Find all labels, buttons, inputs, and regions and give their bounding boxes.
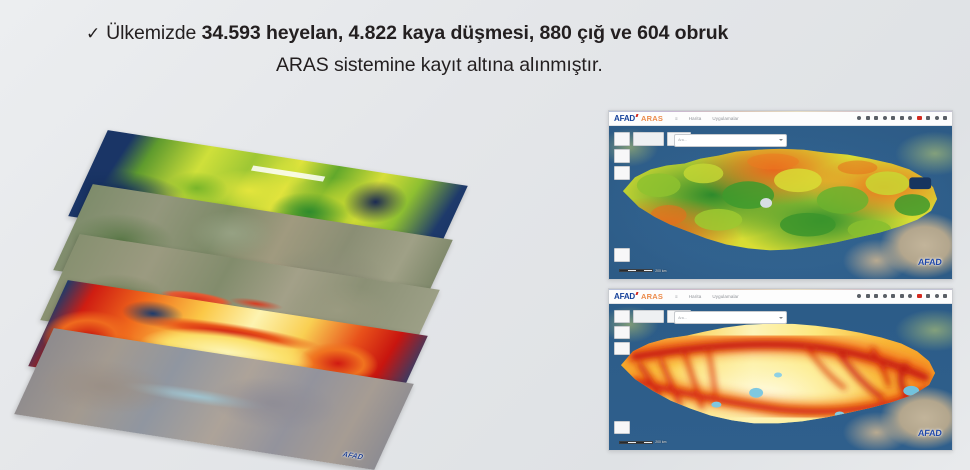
afad-logo[interactable]: AFAD <box>614 292 635 301</box>
measure-icon[interactable] <box>891 294 895 298</box>
aras-logo[interactable]: ARAS <box>641 114 663 123</box>
scale-bar-graphic <box>619 269 653 272</box>
check-icon: ✓ <box>86 24 100 44</box>
map-canvas-landslide[interactable]: Ara... 200 km AFAD <box>609 126 952 279</box>
legend-icon[interactable] <box>883 116 887 120</box>
basemap-icon[interactable] <box>874 116 878 120</box>
header-menu[interactable]: ≡ Harita Uygulamalar <box>675 116 739 121</box>
basemap-icon[interactable] <box>874 294 878 298</box>
locate-button[interactable] <box>614 421 629 434</box>
header-menu[interactable]: ≡ Harita Uygulamalar <box>675 294 739 299</box>
active-tool-icon[interactable] <box>917 294 922 298</box>
map-search-input[interactable]: Ara... <box>674 311 787 323</box>
draw-icon[interactable] <box>926 294 930 298</box>
menu-item-2[interactable]: Uygulamalar <box>712 294 738 299</box>
stat-avalanche-sinkhole: 880 çığ ve 604 obruk <box>540 22 729 44</box>
bookmark-icon[interactable] <box>908 116 912 120</box>
layers-icon[interactable] <box>866 116 870 120</box>
map-scale-bar: 200 km <box>619 269 666 273</box>
headline-prefix: Ülkemizde <box>106 22 201 44</box>
measure-icon[interactable] <box>891 116 895 120</box>
layer-panel-tab[interactable] <box>633 310 664 323</box>
turkey-landslide-raster <box>609 126 952 279</box>
zoom-in-button[interactable] <box>614 310 629 323</box>
map-layer-stack: AFAD AFAD AFAD AFAD AFAD <box>18 150 518 430</box>
settings-icon[interactable] <box>943 294 947 298</box>
search-placeholder: Ara... <box>678 138 687 142</box>
chevron-down-icon[interactable] <box>779 139 783 141</box>
chevron-down-icon[interactable] <box>779 317 783 319</box>
locate-button[interactable] <box>614 248 629 262</box>
afad-watermark: AFAD <box>918 428 943 438</box>
headline-line-2: ARAS sistemine kayıt altına alınmıştır. <box>276 54 886 77</box>
home-extent-button[interactable] <box>614 342 629 355</box>
home-icon[interactable] <box>857 294 861 298</box>
browser-window-seismic[interactable]: AFAD ARAS ≡ Harita Uygulamalar <box>608 288 953 451</box>
turkey-seismic-raster <box>609 304 952 450</box>
app-header-bar: AFAD ARAS ≡ Harita Uygulamalar <box>609 111 952 126</box>
stat-rockfalls: 4.822 kaya düşmesi, <box>349 22 535 44</box>
map-search-input[interactable]: Ara... <box>674 134 787 147</box>
share-icon[interactable] <box>935 294 939 298</box>
menu-item-1[interactable]: Harita <box>689 116 702 121</box>
layer-panel-tab[interactable] <box>633 132 664 146</box>
menu-item-0[interactable]: ≡ <box>675 116 678 121</box>
scale-bar-label: 200 km <box>655 440 666 444</box>
scale-bar-graphic <box>619 441 653 444</box>
headline-line-1: ✓Ülkemizde 34.593 heyelan, 4.822 kaya dü… <box>86 22 886 45</box>
aras-logo[interactable]: ARAS <box>641 292 663 301</box>
afad-watermark: AFAD <box>341 451 365 461</box>
menu-item-0[interactable]: ≡ <box>675 294 678 299</box>
active-tool-icon[interactable] <box>917 116 922 120</box>
zoom-out-button[interactable] <box>614 149 629 163</box>
toolbar-icons[interactable] <box>857 116 947 120</box>
toolbar-icons[interactable] <box>857 294 947 298</box>
legend-icon[interactable] <box>883 294 887 298</box>
map-scale-bar: 200 km <box>619 440 666 444</box>
map-canvas-seismic[interactable]: Ara... 200 km AFAD <box>609 304 952 450</box>
layers-icon[interactable] <box>866 294 870 298</box>
share-icon[interactable] <box>935 116 939 120</box>
stat-landslides: 34.593 heyelan, <box>202 22 344 44</box>
afad-watermark: AFAD <box>918 257 943 267</box>
menu-item-2[interactable]: Uygulamalar <box>712 116 738 121</box>
afad-logo[interactable]: AFAD <box>614 114 635 123</box>
settings-icon[interactable] <box>943 116 947 120</box>
home-extent-button[interactable] <box>614 166 629 180</box>
headline-block: ✓Ülkemizde 34.593 heyelan, 4.822 kaya dü… <box>86 22 886 77</box>
home-icon[interactable] <box>857 116 861 120</box>
zoom-in-button[interactable] <box>614 132 629 146</box>
menu-item-1[interactable]: Harita <box>689 294 702 299</box>
app-header-bar: AFAD ARAS ≡ Harita Uygulamalar <box>609 289 952 304</box>
print-icon[interactable] <box>900 294 904 298</box>
search-placeholder: Ara... <box>678 316 687 320</box>
print-icon[interactable] <box>900 116 904 120</box>
draw-icon[interactable] <box>926 116 930 120</box>
bookmark-icon[interactable] <box>908 294 912 298</box>
scale-bar-label: 200 km <box>655 269 666 273</box>
layer-label-strip <box>251 166 325 182</box>
zoom-out-button[interactable] <box>614 326 629 339</box>
browser-window-landslide[interactable]: AFAD ARAS ≡ Harita Uygulamalar <box>608 110 953 280</box>
